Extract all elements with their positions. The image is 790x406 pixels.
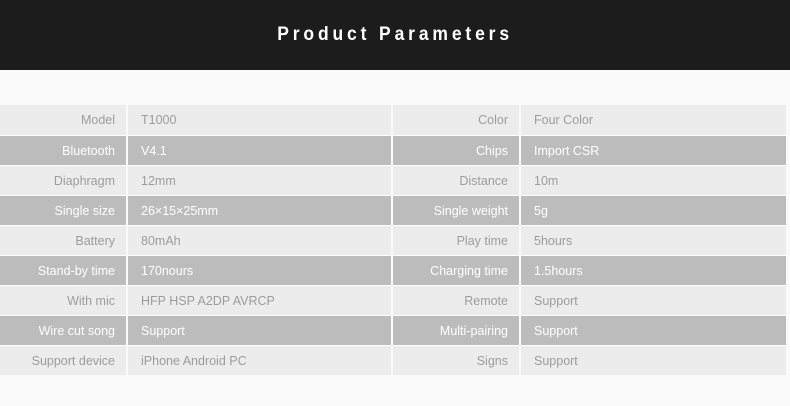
table-row-left-pair: Stand-by time170nours — [0, 255, 393, 285]
parameter-label: Signs — [393, 345, 519, 375]
parameter-label: With mic — [0, 285, 126, 315]
parameter-label: Wire cut song — [0, 315, 126, 345]
parameter-value: 5hours — [521, 225, 786, 255]
table-row-left-pair: ModelT1000 — [0, 105, 393, 135]
parameter-value: Import CSR — [521, 135, 786, 165]
parameter-value: T1000 — [128, 105, 391, 135]
table-row-left-pair: Diaphragm12mm — [0, 165, 393, 195]
table-row: Battery80mAhPlay time5hours — [0, 225, 786, 255]
parameter-value: iPhone Android PC — [128, 345, 391, 375]
parameter-label: Play time — [393, 225, 519, 255]
table-row-right-pair: Multi-pairingSupport — [393, 315, 786, 345]
parameter-value: 12mm — [128, 165, 391, 195]
parameter-value: 1.5hours — [521, 255, 786, 285]
parameter-value: Support — [521, 345, 786, 375]
table-row-left-pair: Battery80mAh — [0, 225, 393, 255]
parameter-value: 80mAh — [128, 225, 391, 255]
table-row: With micHFP HSP A2DP AVRCPRemoteSupport — [0, 285, 786, 315]
parameter-value: 170nours — [128, 255, 391, 285]
table-row: ModelT1000ColorFour Color — [0, 105, 786, 135]
table-row: Support deviceiPhone Android PCSignsSupp… — [0, 345, 786, 375]
parameter-label: Bluetooth — [0, 135, 126, 165]
parameter-value: Support — [521, 315, 786, 345]
table-row-right-pair: Play time5hours — [393, 225, 786, 255]
page-title: Product Parameters — [277, 24, 513, 46]
parameter-label: Remote — [393, 285, 519, 315]
parameter-label: Distance — [393, 165, 519, 195]
parameter-label: Charging time — [393, 255, 519, 285]
parameter-value: Support — [521, 285, 786, 315]
parameter-value: 26×15×25mm — [128, 195, 391, 225]
parameter-label: Model — [0, 105, 126, 135]
parameter-value: 5g — [521, 195, 786, 225]
parameter-label: Chips — [393, 135, 519, 165]
table-row-left-pair: With micHFP HSP A2DP AVRCP — [0, 285, 393, 315]
table-row-right-pair: Charging time1.5hours — [393, 255, 786, 285]
parameter-label: Single weight — [393, 195, 519, 225]
table-row: Wire cut songSupportMulti-pairingSupport — [0, 315, 786, 345]
product-parameters-table: ModelT1000ColorFour ColorBluetoothV4.1Ch… — [0, 105, 786, 375]
table-row-left-pair: Wire cut songSupport — [0, 315, 393, 345]
spec-table-container: ModelT1000ColorFour ColorBluetoothV4.1Ch… — [0, 70, 790, 375]
table-row: BluetoothV4.1ChipsImport CSR — [0, 135, 786, 165]
parameter-value: 10m — [521, 165, 786, 195]
table-row: Single size26×15×25mmSingle weight5g — [0, 195, 786, 225]
parameter-value: Support — [128, 315, 391, 345]
parameter-value: V4.1 — [128, 135, 391, 165]
table-row-left-pair: Single size26×15×25mm — [0, 195, 393, 225]
parameter-value: Four Color — [521, 105, 786, 135]
table-row-right-pair: RemoteSupport — [393, 285, 786, 315]
parameter-label: Battery — [0, 225, 126, 255]
parameter-label: Single size — [0, 195, 126, 225]
table-row-right-pair: SignsSupport — [393, 345, 786, 375]
parameter-label: Stand-by time — [0, 255, 126, 285]
parameter-label: Support device — [0, 345, 126, 375]
table-row: Diaphragm12mmDistance10m — [0, 165, 786, 195]
page-header-banner: Product Parameters — [0, 0, 790, 70]
table-row-right-pair: ChipsImport CSR — [393, 135, 786, 165]
table-row-left-pair: BluetoothV4.1 — [0, 135, 393, 165]
parameter-label: Color — [393, 105, 519, 135]
parameter-label: Multi-pairing — [393, 315, 519, 345]
parameter-label: Diaphragm — [0, 165, 126, 195]
parameter-value: HFP HSP A2DP AVRCP — [128, 285, 391, 315]
table-row-right-pair: ColorFour Color — [393, 105, 786, 135]
table-row-right-pair: Distance10m — [393, 165, 786, 195]
table-row-right-pair: Single weight5g — [393, 195, 786, 225]
table-row-left-pair: Support deviceiPhone Android PC — [0, 345, 393, 375]
table-row: Stand-by time170noursCharging time1.5hou… — [0, 255, 786, 285]
